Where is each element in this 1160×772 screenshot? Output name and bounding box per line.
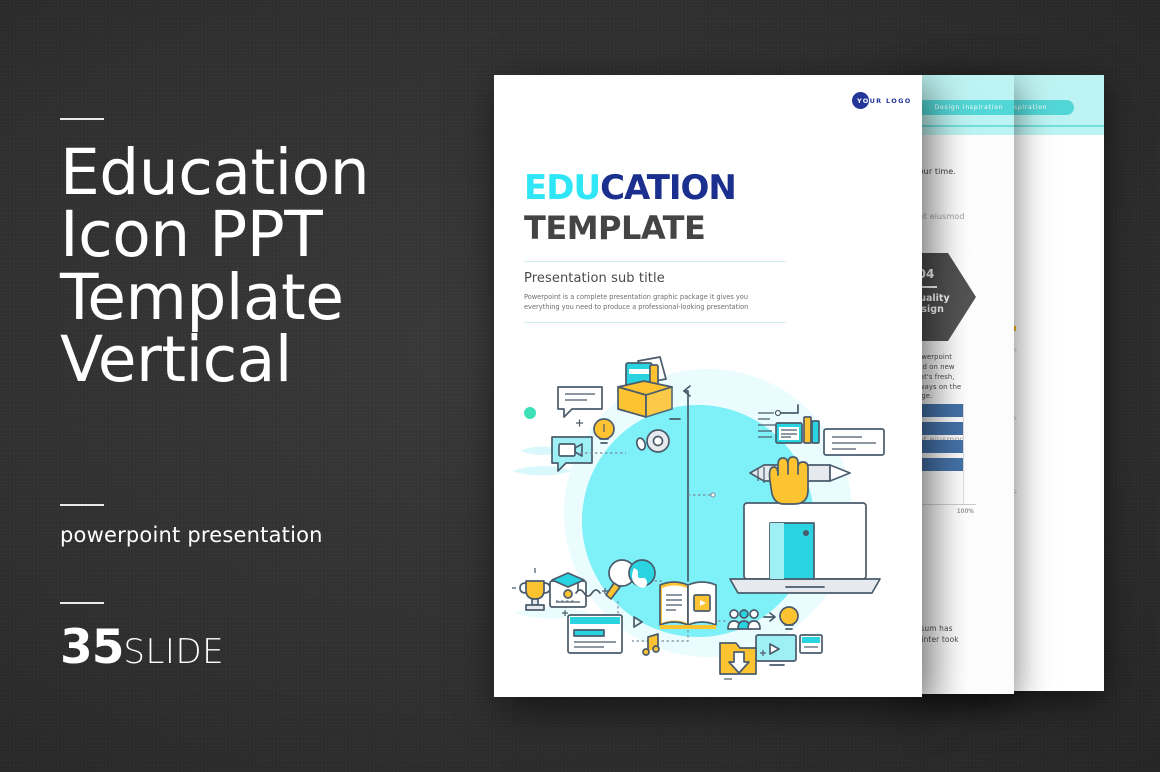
subtitle-box: Presentation sub title Powerpoint is a c… [524, 261, 786, 323]
slide-stack: Design inspiration ng your time. elit, s… [494, 75, 1104, 697]
front-slide[interactable]: YOUR LOGO EDUCATION TEMPLATE Presentatio… [494, 75, 922, 697]
monitor-icon [756, 635, 796, 665]
slide-count-unit: SLIDE [123, 632, 224, 672]
design-inspiration-badge: Design inspiration [910, 100, 1014, 115]
slide-count-number: 35 [60, 620, 123, 675]
presentation-icon [800, 635, 822, 653]
title-line-2: TEMPLATE [524, 212, 736, 244]
box-with-books-icon [618, 357, 672, 417]
promo-title-block: Education Icon PPT Template Vertical [60, 118, 369, 391]
promo-subtitle-block: powerpoint presentation [60, 504, 323, 547]
x-tick: 100% [957, 508, 974, 515]
title-edu: EDU [524, 168, 600, 208]
illustration-svg: .ln{fill:none;stroke:#4a5b6b;stroke-widt… [512, 353, 904, 683]
title-line-1: EDUCATION [524, 171, 736, 205]
promo-subtitle: powerpoint presentation [60, 523, 323, 547]
presentation-sub-title: Presentation sub title [524, 271, 786, 286]
logo-text: YOUR LOGO [857, 97, 912, 105]
promo-slide-count: 35SLIDE [60, 620, 224, 675]
promo-slidecount-block: 35SLIDE [60, 602, 224, 675]
browser-window-icon [568, 615, 622, 653]
title-rule [60, 118, 104, 120]
open-book-icon [660, 582, 716, 629]
gridline [963, 404, 964, 504]
trophy-icon [512, 568, 550, 610]
sleeve-icon [770, 523, 814, 579]
logo: YOUR LOGO [852, 92, 912, 109]
slide-title: EDUCATION TEMPLATE [524, 171, 736, 244]
logo-text-head: YO [857, 97, 870, 105]
presentation-description: Powerpoint is a complete presentation gr… [524, 292, 786, 312]
title-cation: CATION [600, 168, 736, 208]
promo-title: Education Icon PPT Template Vertical [60, 142, 369, 391]
speech-bubble-icon [558, 387, 602, 417]
slidecount-rule [60, 602, 104, 604]
plus-icon [576, 420, 583, 427]
logo-text-tail: UR LOGO [870, 97, 912, 105]
education-illustration: .ln{fill:none;stroke:#4a5b6b;stroke-widt… [512, 353, 904, 683]
note-card-icon [824, 429, 884, 455]
subtitle-rule [60, 504, 104, 506]
